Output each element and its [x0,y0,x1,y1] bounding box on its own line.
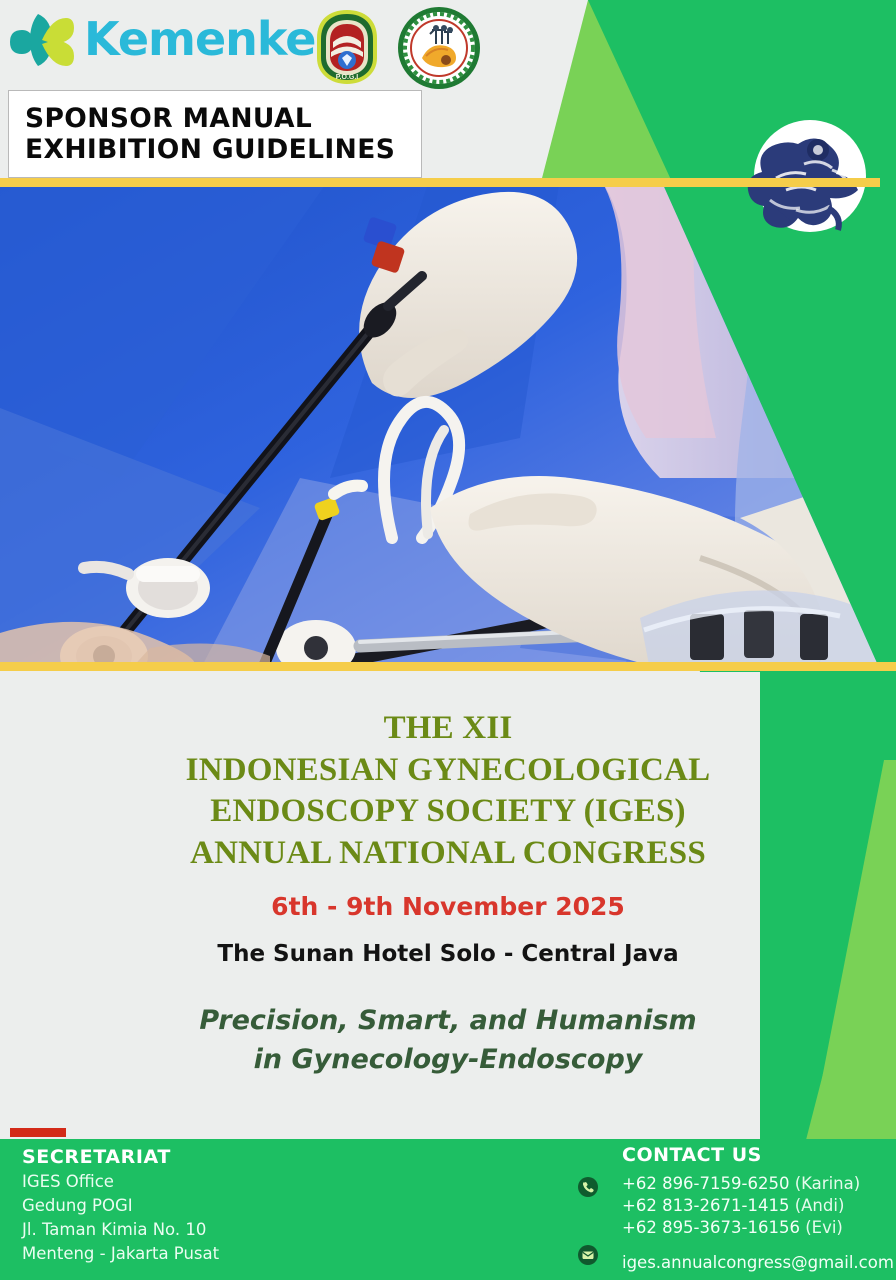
phone-number: +62 896-7159-6250 [622,1174,789,1193]
phone-number-list: +62 896-7159-6250 (Karina) +62 813-2671-… [622,1173,896,1239]
footer-red-accent-bar [10,1128,66,1137]
phone-row: +62 896-7159-6250 (Karina) [622,1173,896,1195]
phone-number: +62 813-2671-1415 [622,1196,789,1215]
hero-bottom-gold-band [0,662,896,671]
kemenkes-logo-icon [8,6,80,78]
secretariat-line: Gedung POGI [22,1195,442,1216]
congress-title: THE XII INDONESIAN GYNECOLOGICAL ENDOSCO… [0,708,896,874]
poster-page: Kemenkes P.O.G.I [0,0,896,1280]
congress-title-line-3: ENDOSCOPY SOCIETY (IGES) [0,791,896,833]
kemenkes-wordmark: Kemenkes [84,12,342,66]
contact-heading: CONTACT US [622,1144,896,1166]
phone-row: +62 813-2671-1415 (Andi) [622,1195,896,1217]
phone-contact-name: (Andi) [795,1196,845,1215]
svg-text:P.O.G.I: P.O.G.I [336,74,358,81]
congress-title-line-1: THE XII [0,708,896,750]
phone-contact-name: (Evi) [805,1218,843,1237]
phone-number: +62 895-3673-16156 [622,1218,800,1237]
email-icon [578,1245,598,1265]
iges-circular-logo-icon [396,6,482,90]
congress-title-line-2: INDONESIAN GYNECOLOGICAL [0,750,896,792]
tagline-line-2: in Gynecology-Endoscopy [0,1040,896,1079]
secretariat-line: Menteng - Jakarta Pusat [22,1243,442,1264]
phone-icon [578,1177,598,1197]
pogi-logo-icon: P.O.G.I [311,8,383,86]
contact-block: CONTACT US +62 896-7159-6250 (Karina) +6… [578,1144,896,1272]
document-title-box: SPONSOR MANUAL EXHIBITION GUIDELINES [8,90,422,178]
secretariat-heading: SECRETARIAT [22,1146,442,1168]
phone-row: +62 895-3673-16156 (Evi) [622,1217,896,1239]
event-tagline: Precision, Smart, and Humanism in Gyneco… [0,1001,896,1079]
doc-title-line-2: EXHIBITION GUIDELINES [25,134,421,165]
poster-main-content: THE XII INDONESIAN GYNECOLOGICAL ENDOSCO… [0,676,896,1128]
event-date: 6th - 9th November 2025 [0,892,896,921]
event-venue: The Sunan Hotel Solo - Central Java [0,941,896,967]
doc-title-line-1: SPONSOR MANUAL [25,103,421,134]
hero-top-gold-band [0,178,880,187]
secretariat-block: SECRETARIAT IGES Office Gedung POGI Jl. … [22,1146,442,1264]
email-address: iges.annualcongress@gmail.com [622,1253,896,1272]
wayang-batik-circle-emblem-icon [746,116,874,236]
secretariat-line: IGES Office [22,1171,442,1192]
phone-contact-name: (Karina) [795,1174,860,1193]
congress-title-line-4: ANNUAL NATIONAL CONGRESS [0,833,896,875]
secretariat-line: Jl. Taman Kimia No. 10 [22,1219,442,1240]
tagline-line-1: Precision, Smart, and Humanism [0,1001,896,1040]
